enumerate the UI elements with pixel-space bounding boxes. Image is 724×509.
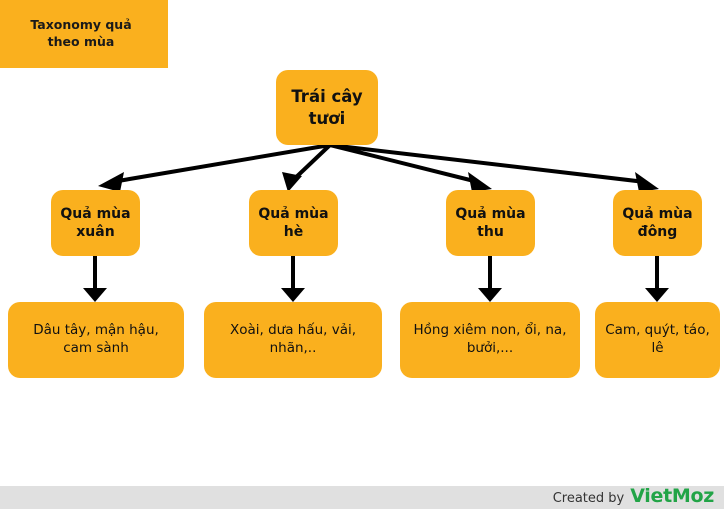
node-season-spring-line-2: xuân [76, 224, 114, 240]
node-season-summer-line-1: Quả mùa [258, 206, 328, 222]
footer-credit: Created by VietMoz [553, 485, 714, 507]
node-season-spring-line-1: Quả mùa [60, 206, 130, 222]
node-root-line-1: Trái cây [291, 87, 362, 106]
node-items-summer[interactable]: Xoài, dưa hấu, vải, nhãn,.. [204, 302, 382, 378]
node-items-summer-line-2: nhãn,.. [270, 340, 317, 356]
ribbon-banner: Taxonomy quả theo mùa [0, 0, 168, 68]
arrowhead-summer-items [281, 288, 305, 302]
node-items-autumn-line-1: Hồng xiêm non, ổi, na, [414, 322, 567, 338]
node-season-autumn[interactable]: Quả mùa thu [446, 190, 535, 256]
edge-root-to-autumn [330, 145, 478, 182]
node-items-summer-line-1: Xoài, dưa hấu, vải, [230, 322, 356, 338]
node-season-winter-line-1: Quả mùa [622, 206, 692, 222]
footer-created-by-label: Created by [553, 491, 625, 506]
ribbon-line-1: Taxonomy quả [30, 17, 131, 32]
arrowhead-spring [98, 172, 124, 192]
node-items-autumn-line-2: bưởi,... [467, 340, 513, 356]
node-root-fresh-fruit[interactable]: Trái cây tươi [276, 70, 378, 145]
arrowhead-winter-items [645, 288, 669, 302]
node-items-spring-line-2: cam sành [63, 340, 129, 356]
arrowhead-autumn-items [478, 288, 502, 302]
node-season-autumn-line-2: thu [477, 224, 504, 240]
arrowhead-summer [282, 172, 302, 192]
node-season-summer[interactable]: Quả mùa hè [249, 190, 338, 256]
node-items-spring-line-1: Dâu tây, mận hậu, [33, 322, 159, 338]
node-items-winter-line-1: Cam, quýt, táo, [605, 322, 710, 338]
node-season-spring[interactable]: Quả mùa xuân [51, 190, 140, 256]
arrowhead-spring-items [83, 288, 107, 302]
node-items-autumn[interactable]: Hồng xiêm non, ổi, na, bưởi,... [400, 302, 580, 378]
node-season-summer-line-2: hè [284, 224, 303, 240]
edge-root-to-spring [112, 145, 330, 182]
arrowhead-autumn [468, 172, 492, 192]
node-root-line-2: tươi [309, 109, 346, 128]
edge-root-to-summer [291, 145, 330, 182]
node-items-winter[interactable]: Cam, quýt, táo, lê [595, 302, 720, 378]
node-season-winter-line-2: đông [638, 224, 678, 240]
diagram-canvas: Taxonomy quả theo mùa Trái [0, 0, 724, 509]
ribbon-line-2: theo mùa [48, 34, 115, 49]
brand-vietmoz: VietMoz [630, 485, 714, 507]
node-items-winter-line-2: lê [651, 340, 663, 356]
node-season-winter[interactable]: Quả mùa đông [613, 190, 702, 256]
node-season-autumn-line-1: Quả mùa [455, 206, 525, 222]
arrowhead-winter [635, 172, 659, 192]
node-items-spring[interactable]: Dâu tây, mận hậu, cam sành [8, 302, 184, 378]
edge-root-to-winter [330, 145, 645, 182]
ribbon-banner-text: Taxonomy quả theo mùa [17, 17, 152, 51]
